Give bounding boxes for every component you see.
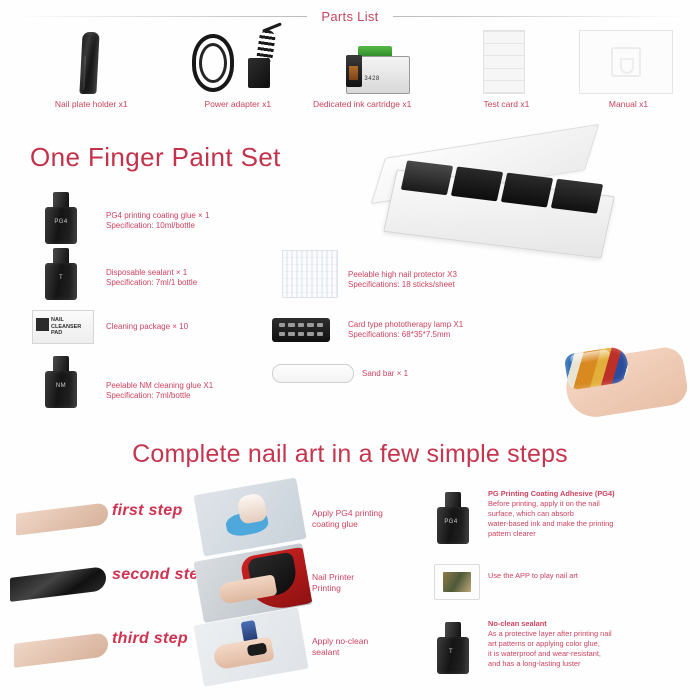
parts-list-grid: Nail plate holder x1 Power adapter x1 bbox=[16, 26, 690, 124]
part-test-card: Test card x1 bbox=[446, 26, 563, 124]
app-screen-thumbnail bbox=[434, 564, 480, 600]
steps-heading: Complete nail art in a few simple steps bbox=[0, 440, 700, 469]
spec-nm-name: Peelable NM cleaning glue X1 bbox=[106, 381, 213, 392]
step-caption-third: Apply no-clean sealant bbox=[312, 636, 368, 658]
part-label: Power adapter x1 bbox=[163, 99, 310, 110]
cleanser-pad-label: NAIL CLEANSER PAD bbox=[51, 317, 93, 337]
part-label: Dedicated ink cartridge x1 bbox=[309, 99, 446, 110]
painted-nail-photo bbox=[560, 336, 692, 432]
sand-bar-icon bbox=[272, 364, 354, 383]
parts-list-title: Parts List bbox=[307, 9, 392, 24]
bottle-mark: T bbox=[436, 649, 466, 655]
spec-protector-name: Peelable high nail protector X3 bbox=[348, 270, 457, 281]
step-note-body-third: As a protective layer after printing nai… bbox=[488, 629, 612, 669]
product-box-photo bbox=[368, 140, 620, 268]
ink-cartridge-icon: 3428 bbox=[309, 26, 446, 94]
step-photo-third bbox=[193, 607, 308, 686]
step-row-second: second step Nail Printer Printing Use th… bbox=[0, 552, 700, 618]
step-label-first: first step bbox=[112, 502, 183, 520]
spec-nm-specification: Specification: 7ml/bottle bbox=[106, 391, 191, 402]
finger-silhouette-icon bbox=[14, 632, 108, 668]
part-ink-cartridge: 3428 Dedicated ink cartridge x1 bbox=[309, 26, 446, 124]
spec-pg4-specification: Specification: 10ml/bottle bbox=[106, 221, 195, 232]
bottle-nm-icon: NM bbox=[44, 356, 78, 408]
bottle-mark: T bbox=[44, 275, 78, 281]
bottle-mark: NM bbox=[44, 383, 78, 389]
step-label-third: third step bbox=[112, 630, 188, 648]
spec-sealant-specification: Specification: 7ml/1 bottle bbox=[106, 278, 197, 289]
finger-silhouette-icon bbox=[16, 502, 108, 535]
spec-lamp-name: Card type phototherapy lamp X1 bbox=[348, 320, 463, 331]
manual-icon bbox=[563, 26, 690, 94]
nail-protector-icon bbox=[282, 250, 338, 298]
bottle-sealant-icon: T bbox=[44, 248, 78, 300]
part-label: Test card x1 bbox=[446, 99, 563, 110]
step-caption-first: Apply PG4 printing coating glue bbox=[312, 508, 383, 530]
product-set-title: One Finger Paint Set bbox=[30, 142, 281, 173]
cartridge-code: 3428 bbox=[364, 76, 379, 82]
divider-right bbox=[393, 16, 686, 17]
part-manual: Manual x1 bbox=[563, 26, 690, 124]
parts-list-header: Parts List bbox=[14, 6, 686, 26]
step-note-title-third: No-clean sealant bbox=[488, 619, 547, 629]
step-caption-second: Nail Printer Printing bbox=[312, 572, 354, 594]
nail-plate-holder-icon bbox=[16, 26, 163, 94]
infographic-page: Parts List Nail plate holder x1 Power ad… bbox=[0, 0, 700, 700]
nail-plate-silhouette-icon bbox=[10, 566, 106, 602]
bottle-sealant-step-icon: T bbox=[436, 622, 466, 670]
step-note-body-first: Before printing, apply it on the nail su… bbox=[488, 499, 613, 539]
divider-left bbox=[14, 16, 307, 17]
bottle-pg4-step-icon: PG4 bbox=[436, 492, 466, 540]
spec-lamp-specification: Specifications: 68*35*7.5mm bbox=[348, 330, 450, 341]
step-note-body-second: Use the APP to play nail art bbox=[488, 571, 578, 581]
step-note-title-first: PG Printing Coating Adhesive (PG4) bbox=[488, 489, 615, 499]
phototherapy-lamp-icon bbox=[272, 318, 330, 342]
power-adapter-icon bbox=[163, 26, 310, 94]
spec-protector-specification: Specifications: 18 sticks/sheet bbox=[348, 280, 455, 291]
bottle-mark: PG4 bbox=[436, 519, 466, 525]
bottle-mark: PG4 bbox=[44, 219, 78, 225]
spec-pg4-name: PG4 printing coating glue × 1 bbox=[106, 211, 209, 222]
part-nail-plate-holder: Nail plate holder x1 bbox=[16, 26, 163, 124]
part-label: Manual x1 bbox=[563, 99, 690, 110]
step-row-first: first step Apply PG4 printing coating gl… bbox=[0, 486, 700, 552]
spec-cleaning-package-name: Cleaning package × 10 bbox=[106, 322, 188, 333]
step-row-third: third step Apply no-clean sealant T No-c… bbox=[0, 616, 700, 682]
bottle-pg4-icon: PG4 bbox=[44, 192, 78, 244]
cleaning-pad-package-icon: NAIL CLEANSER PAD bbox=[32, 310, 94, 344]
spec-sand-bar-name: Sand bar × 1 bbox=[362, 369, 408, 380]
test-card-icon bbox=[446, 26, 563, 94]
part-power-adapter: Power adapter x1 bbox=[163, 26, 310, 124]
part-label: Nail plate holder x1 bbox=[16, 99, 163, 110]
spec-sealant-name: Disposable sealant × 1 bbox=[106, 268, 187, 279]
